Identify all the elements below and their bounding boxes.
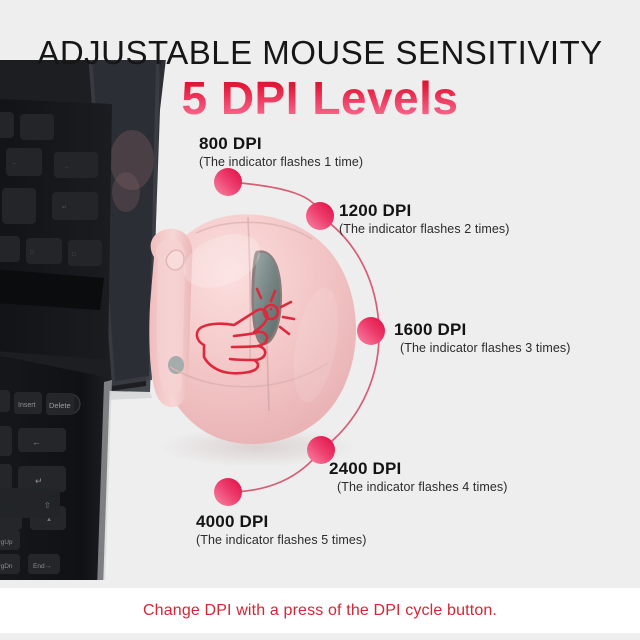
caption-band: Change DPI with a press of the DPI cycle… xyxy=(0,588,640,633)
svg-text:Delete: Delete xyxy=(49,401,71,410)
mouse-dpi-button xyxy=(168,356,184,374)
svg-text:Insert: Insert xyxy=(18,402,36,409)
page-subtitle: 5 DPI Levels xyxy=(0,72,640,124)
page-title: ADJUSTABLE MOUSE SENSITIVITY xyxy=(0,34,640,72)
dpi-dot-800[interactable] xyxy=(214,168,242,196)
callout-1200-dpi: 1200 DPI xyxy=(339,200,510,221)
laptop-upper-keyboard: ← ← ↵ □ □ xyxy=(0,98,112,360)
laptop-base: Insert Delete ← ↵ ↑ ↓ A غ ▲ xyxy=(0,352,112,580)
svg-text:↑PgUp: ↑PgUp xyxy=(0,539,13,546)
svg-text:←: ← xyxy=(32,437,41,447)
svg-text:←: ← xyxy=(64,164,70,170)
infographic-canvas: ← ← ↵ □ □ Insert Delete xyxy=(0,0,640,640)
callout-4000-dpi: 4000 DPI xyxy=(196,511,367,532)
callout-1600: 1600 DPI (The indicator flashes 3 times) xyxy=(394,319,571,357)
svg-text:⇧: ⇧ xyxy=(44,501,51,510)
callout-1200-note: (The indicator flashes 2 times) xyxy=(339,221,510,238)
svg-text:↵: ↵ xyxy=(62,205,67,211)
svg-text:End→: End→ xyxy=(33,563,51,570)
callout-4000: 4000 DPI (The indicator flashes 5 times) xyxy=(196,511,367,549)
callout-1200: 1200 DPI (The indicator flashes 2 times) xyxy=(339,200,510,238)
callout-2400-note: (The indicator flashes 4 times) xyxy=(329,479,508,496)
callout-2400: 2400 DPI (The indicator flashes 4 times) xyxy=(329,458,508,496)
callout-800: 800 DPI (The indicator flashes 1 time) xyxy=(199,133,363,171)
svg-text:□: □ xyxy=(30,250,34,256)
svg-text:↓PgDn: ↓PgDn xyxy=(0,563,13,570)
svg-text:←: ← xyxy=(12,160,18,166)
callout-800-dpi: 800 DPI xyxy=(199,133,363,154)
callout-1600-dpi: 1600 DPI xyxy=(394,319,571,340)
callout-800-note: (The indicator flashes 1 time) xyxy=(199,154,363,171)
callout-2400-dpi: 2400 DPI xyxy=(329,458,508,479)
svg-text:□: □ xyxy=(72,252,76,258)
callout-1600-note: (The indicator flashes 3 times) xyxy=(394,340,571,357)
caption-text: Change DPI with a press of the DPI cycle… xyxy=(143,601,497,621)
dpi-dot-4000[interactable] xyxy=(214,478,242,506)
callout-4000-note: (The indicator flashes 5 times) xyxy=(196,532,367,549)
